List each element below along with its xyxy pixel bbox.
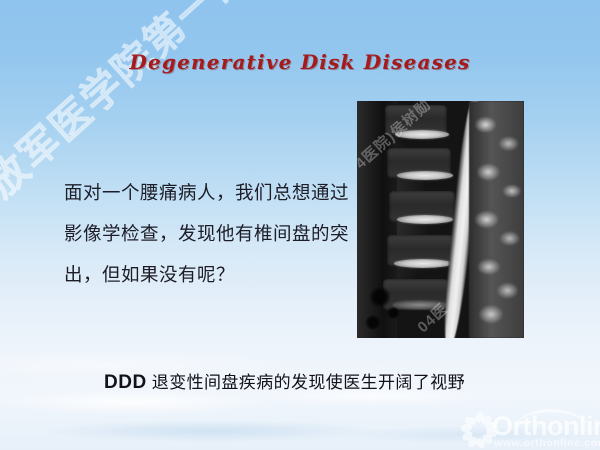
intervertebral-disk — [397, 215, 453, 224]
vascular-blob — [369, 287, 391, 307]
vascular-blob — [365, 315, 381, 330]
slide-body-text: 面对一个腰痛病人，我们总想通过影像学检查，发现他有椎间盘的突出，但如果没有呢？ — [64, 172, 354, 295]
logo-wordmark: Orthonline — [492, 411, 600, 442]
intervertebral-disk — [395, 130, 449, 139]
logo-petal-icon — [464, 415, 477, 427]
cloud-texture-lower — [0, 412, 600, 450]
slide-caption: DDD 退变性间盘疾病的发现使医生开阔了视野 — [104, 368, 465, 394]
slide-title: Degenerative Disk Diseases — [0, 50, 600, 74]
logo-petal-icon — [484, 421, 496, 431]
intervertebral-disk — [394, 259, 452, 268]
logo-petal-icon — [461, 429, 475, 442]
logo-petal-icon — [474, 436, 486, 449]
orthonline-logo: Orthonline www.orthonline.com.cn — [462, 409, 598, 450]
logo-petal-icon — [480, 414, 494, 427]
posterior-elements — [469, 101, 524, 338]
caption-abbreviation: DDD — [104, 372, 147, 393]
logo-petal-icon — [466, 435, 478, 448]
lumbar-spine-mri-image: 4医院)侯树勋 04医 — [357, 101, 524, 338]
presentation-slide: 解放军医学院第一附属医院(304医院)侯树勋教授 Degenerative Di… — [0, 0, 600, 450]
logo-petal-icon — [473, 410, 485, 424]
logo-petal-icon — [460, 423, 472, 433]
degenerated-disk — [393, 301, 447, 309]
vascular-blob — [387, 307, 400, 319]
mri-canvas: 4医院)侯树勋 04医 — [357, 101, 524, 338]
logo-swoosh-icon — [514, 409, 588, 430]
caption-text: 退变性间盘疾病的发现使医生开阔了视野 — [147, 373, 465, 392]
logo-url: www.orthonline.com.cn — [494, 437, 600, 449]
logo-petal-icon — [481, 432, 495, 445]
logo-petal-icon — [485, 428, 498, 439]
intervertebral-disk — [397, 171, 453, 180]
